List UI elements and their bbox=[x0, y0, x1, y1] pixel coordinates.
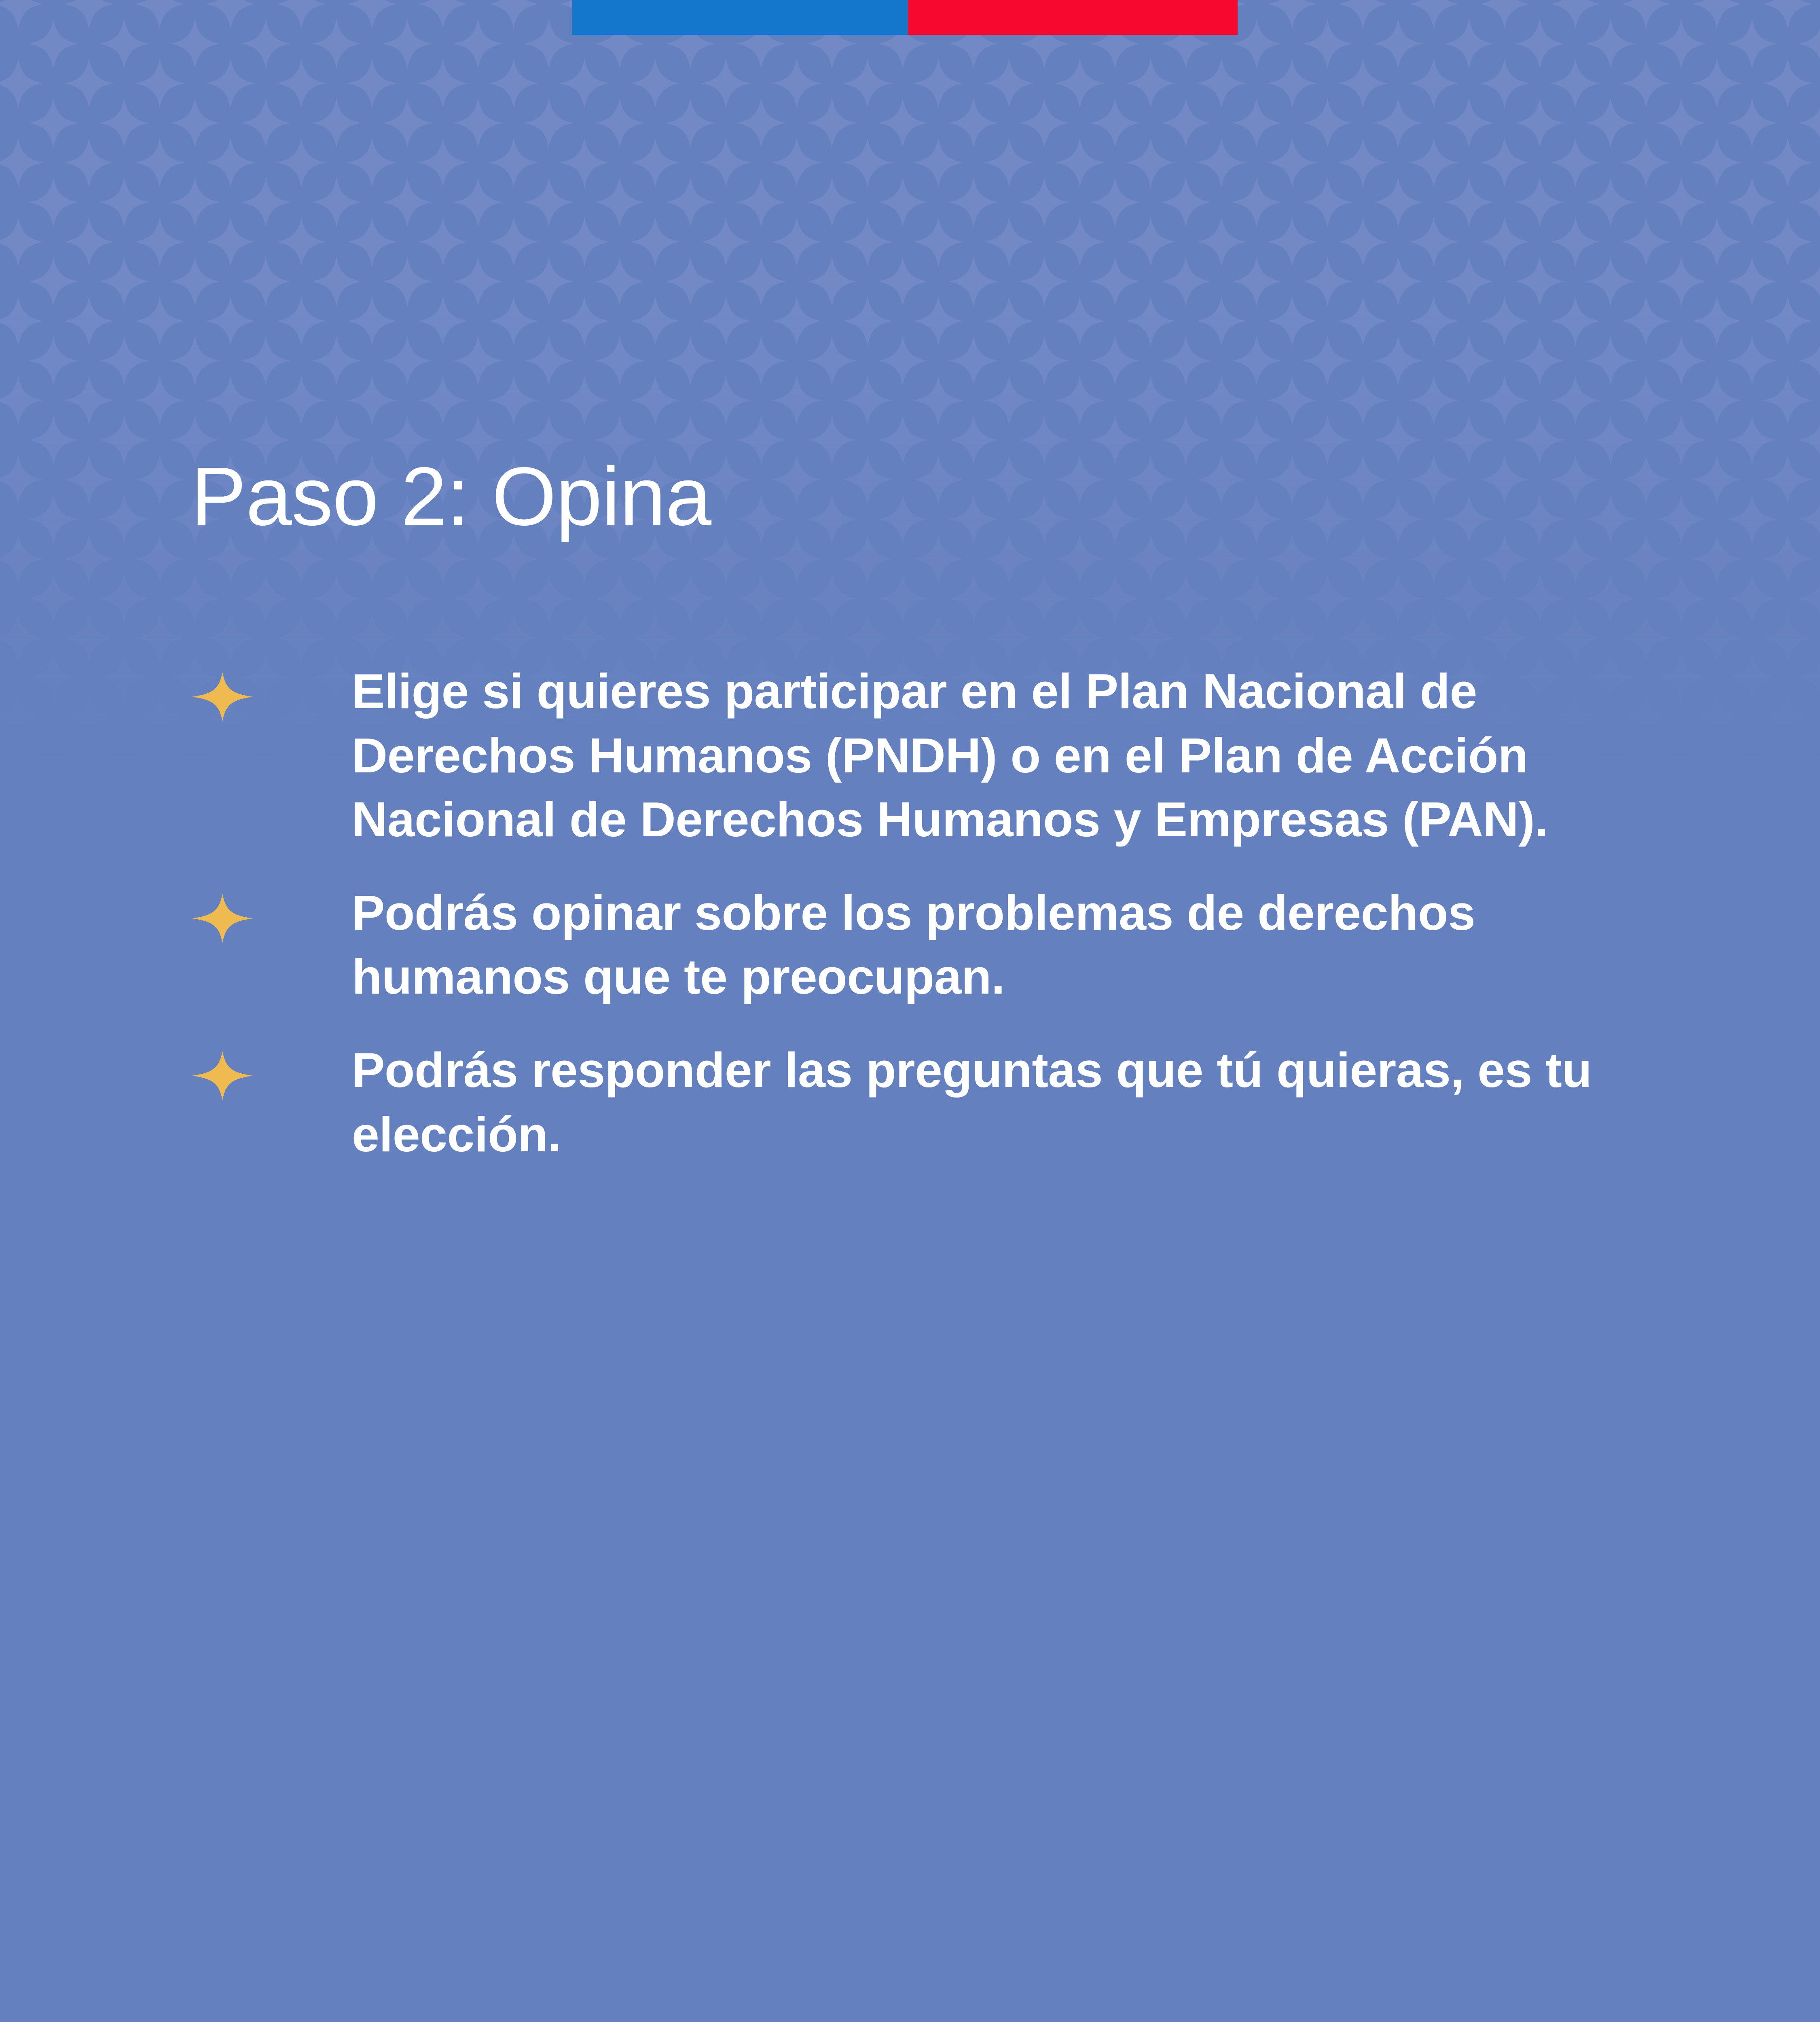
list-item-label: Elige si quieres participar en el Plan N… bbox=[352, 659, 1594, 852]
sparkle-pattern-background bbox=[0, 0, 1820, 768]
sparkle-star-icon bbox=[190, 1049, 255, 1102]
list-item-label: Podrás opinar sobre los problemas de der… bbox=[352, 881, 1594, 1009]
list-item-label: Podrás responder las preguntas que tú qu… bbox=[352, 1038, 1594, 1166]
sparkle-star-icon bbox=[190, 670, 255, 723]
page-title: Paso 2: Opina bbox=[191, 452, 1647, 541]
list-item: Podrás responder las preguntas que tú qu… bbox=[190, 1038, 1646, 1166]
bullet-list: Elige si quieres participar en el Plan N… bbox=[190, 659, 1646, 1195]
poster-canvas: Paso 2: Opina Elige si quieres participa… bbox=[0, 0, 1820, 2022]
list-item: Podrás opinar sobre los problemas de der… bbox=[190, 881, 1646, 1009]
flag-bar-blue bbox=[572, 0, 908, 35]
list-item: Elige si quieres participar en el Plan N… bbox=[190, 659, 1646, 852]
sparkle-star-icon bbox=[190, 892, 255, 945]
flag-bar-red bbox=[908, 0, 1238, 35]
